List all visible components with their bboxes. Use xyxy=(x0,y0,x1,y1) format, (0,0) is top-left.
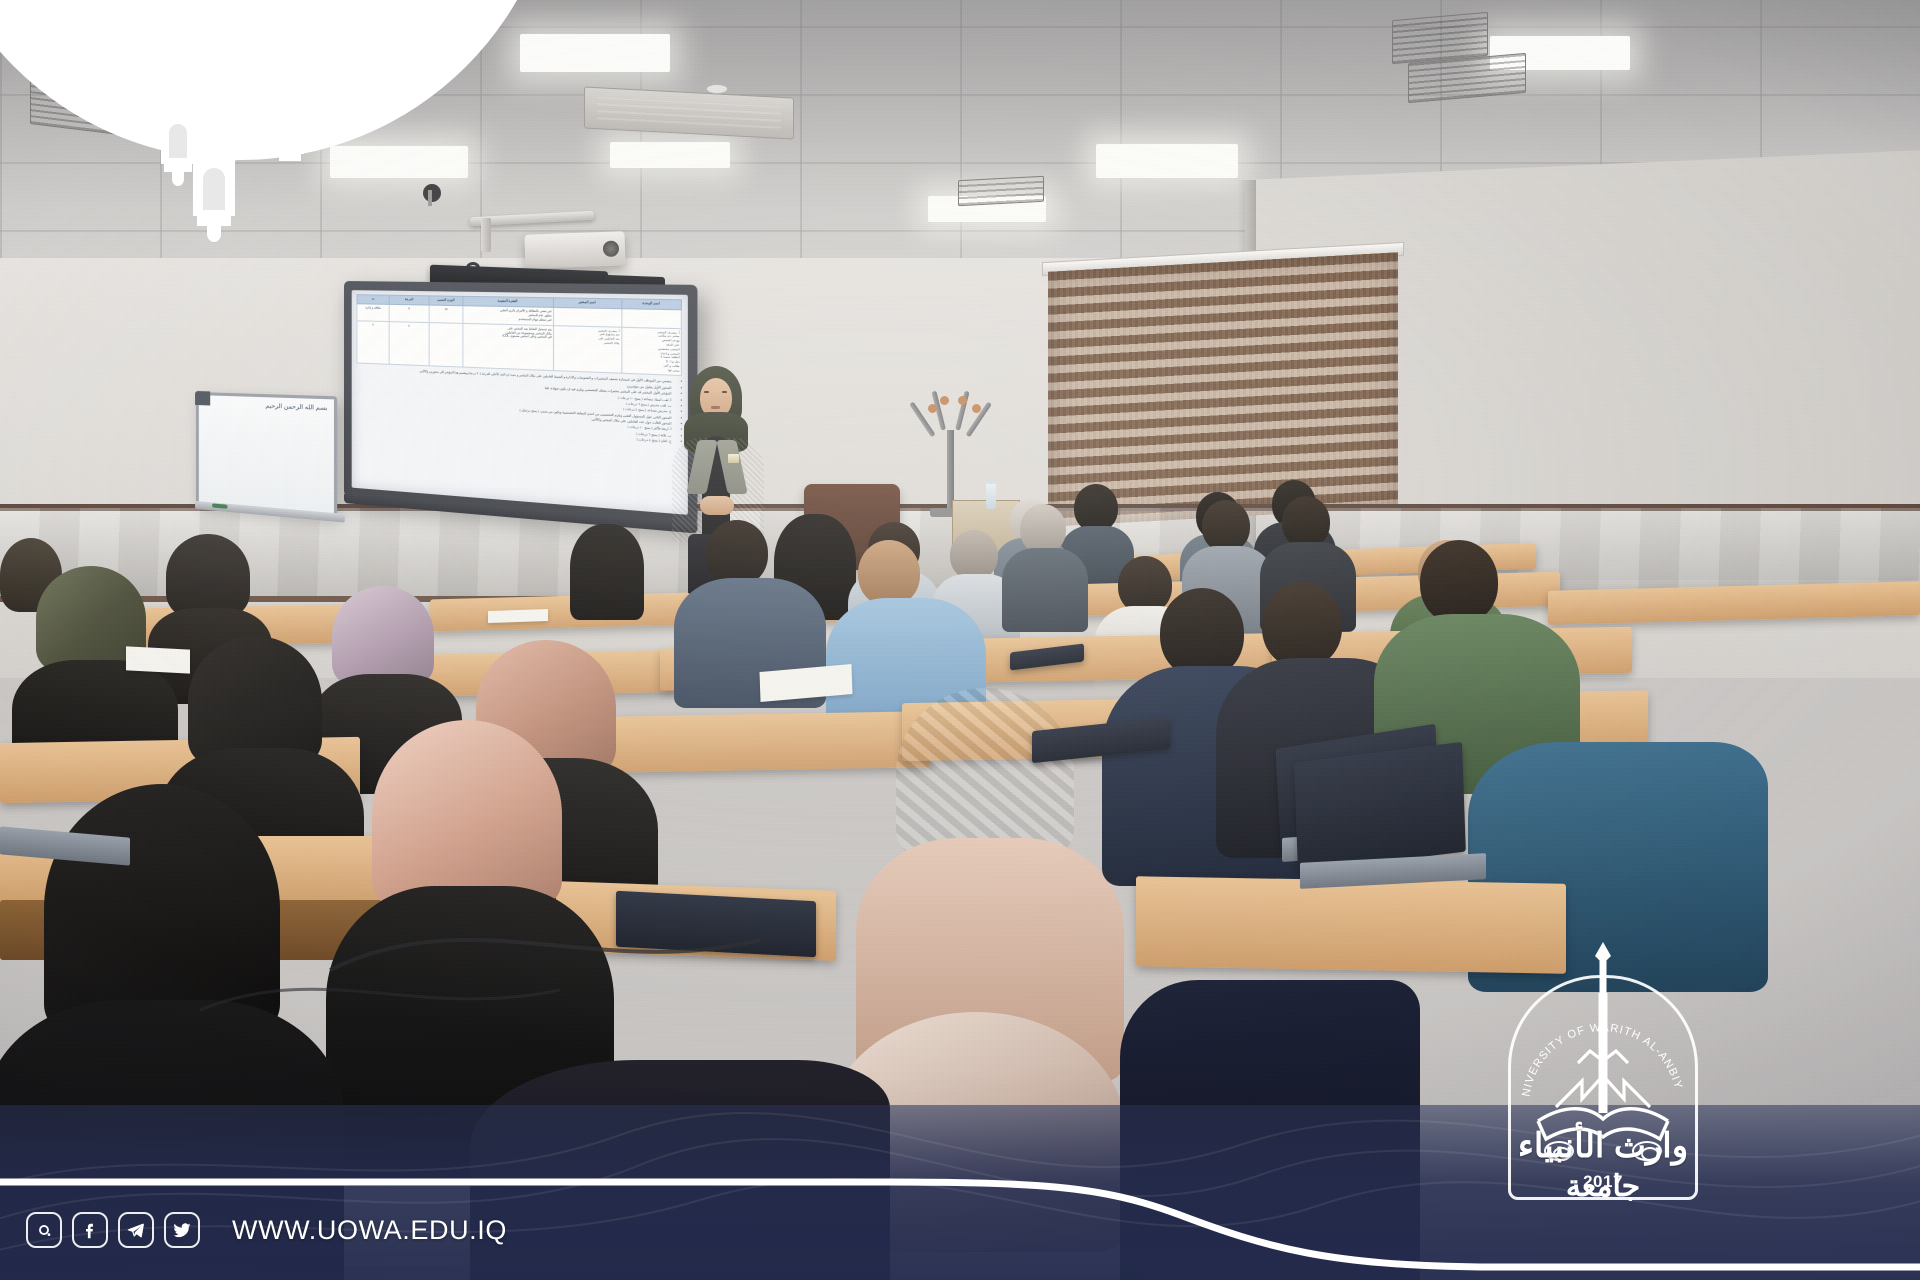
logo-year: 2017 xyxy=(1583,1172,1623,1192)
attendee-hijab xyxy=(896,688,1074,860)
logo-flourish xyxy=(1556,1051,1650,1107)
desk xyxy=(430,593,690,632)
lantern-window xyxy=(169,124,187,158)
attendee-head xyxy=(706,520,768,586)
twitter-icon xyxy=(171,1219,193,1241)
attendee-head xyxy=(1020,504,1066,554)
smart-board[interactable]: اسم الوحدة اسم المختبر الفقرة المقيمة ال… xyxy=(344,281,697,526)
lantern-bead xyxy=(288,84,293,89)
whiteboard-corner-bracket xyxy=(195,391,210,406)
logo-arc-label: UNIVERSITY OF WARITH AL-ANBIYAA xyxy=(1508,975,1684,1097)
coat-hook xyxy=(972,404,981,413)
handout-paper xyxy=(488,609,548,623)
slide-table: اسم الوحدة اسم المختبر الفقرة المقيمة ال… xyxy=(356,294,681,376)
desk xyxy=(600,711,930,773)
university-logo: UNIVERSITY OF WARITH AL-ANBIYAA وارث الأ… xyxy=(1508,975,1698,1200)
ceiling-light xyxy=(520,34,670,72)
instagram-icon xyxy=(33,1219,55,1241)
coat-hook xyxy=(940,396,949,405)
lantern-foot xyxy=(172,172,184,186)
ceiling-vent xyxy=(1392,12,1488,64)
lantern-cord xyxy=(177,36,179,100)
attendee-head xyxy=(950,530,998,580)
desk xyxy=(1136,876,1566,974)
attendee-head xyxy=(1202,500,1250,552)
lantern-cage xyxy=(276,114,304,154)
twitter-link[interactable] xyxy=(164,1212,200,1248)
cell-score: ٤ xyxy=(390,321,429,366)
logo-arabic-top: وارث الأنبياء xyxy=(1508,1126,1698,1166)
projector xyxy=(524,231,625,268)
laptop xyxy=(1294,742,1466,872)
presenter-mouth xyxy=(711,406,720,409)
facebook-icon xyxy=(79,1219,101,1241)
attendee-head xyxy=(1282,496,1330,548)
cell-lab xyxy=(553,307,621,327)
attendee-head xyxy=(1160,588,1244,678)
presenter-eye xyxy=(704,391,709,393)
whiteboard-text: بسم الله الرحمن الرحيم xyxy=(266,402,328,412)
attendee-head xyxy=(1074,484,1118,532)
attendee-hijab xyxy=(332,586,434,686)
ceiling-light xyxy=(1096,144,1238,178)
logo-arc-text: UNIVERSITY OF WARITH AL-ANBIYAA xyxy=(1508,975,1698,1200)
attendee-head xyxy=(1420,540,1498,624)
cell-weight xyxy=(429,322,463,367)
social-links[interactable] xyxy=(26,1212,200,1248)
floor-cables xyxy=(0,780,900,1040)
lantern-base xyxy=(279,152,301,161)
cell-score: ٥ xyxy=(390,304,429,322)
whiteboard: بسم الله الرحمن الرحيم xyxy=(196,392,337,517)
cell-lab: أ. مشرف المختبريتم مسؤول فنيبعد العاملين… xyxy=(553,325,621,373)
lantern-icon xyxy=(270,18,310,188)
presenter-hands xyxy=(700,496,734,515)
telegram-link[interactable] xyxy=(118,1212,154,1248)
lantern-foot xyxy=(207,226,221,242)
coat-hook xyxy=(928,404,937,413)
lantern-dome xyxy=(274,96,306,116)
ceiling-camera xyxy=(423,184,441,202)
attendee-abaya xyxy=(570,524,644,620)
slide-table-row: أ. مشرف المختبرمختبر ذي مكاتببهدف الفحصع… xyxy=(357,320,681,376)
lantern-base xyxy=(197,214,231,226)
handout-paper xyxy=(126,646,190,673)
telegram-icon xyxy=(125,1219,147,1241)
cell-no: نظافة و إدارة xyxy=(357,304,390,322)
lantern-bead xyxy=(176,60,181,65)
smart-board-screen: اسم الوحدة اسم المختبر الفقرة المقيمة ال… xyxy=(352,290,688,515)
website-url[interactable]: WWW.UOWA.EDU.IQ xyxy=(232,1212,507,1248)
projector-mount-drop xyxy=(481,218,491,252)
attendee-hijab xyxy=(188,636,322,766)
attendee-hijab xyxy=(166,534,250,618)
ceiling-light xyxy=(610,142,730,168)
attendee-head xyxy=(858,540,920,606)
lantern-icon xyxy=(186,108,242,268)
coat-hook xyxy=(958,396,967,405)
presentation-slide: اسم الوحدة اسم المختبر الفقرة المقيمة ال… xyxy=(356,294,681,510)
cell-item: يتم تسجيل النقاط بعد المختبر على ملاك ال… xyxy=(463,323,553,371)
lantern-bead xyxy=(288,40,293,45)
instagram-link[interactable] xyxy=(26,1212,62,1248)
attendee-head xyxy=(1262,582,1342,668)
slide-notes: يتضمن من الموظف الأول في استمارة تصنيف ا… xyxy=(356,367,681,445)
cell-item: غير معنى بالنظافة و الالتزام بالزي الطبي… xyxy=(463,306,553,326)
smoke-detector xyxy=(706,84,728,94)
presenter-name-badge xyxy=(728,454,739,463)
facebook-link[interactable] xyxy=(72,1212,108,1248)
ceiling-vent xyxy=(958,176,1044,207)
cell-weight: ١٥ xyxy=(429,305,463,323)
cell-no: ٢ xyxy=(357,320,390,364)
lantern-window xyxy=(203,168,225,210)
screenshot-root: اسم الوحدة اسم المختبر الفقرة المقيمة ال… xyxy=(0,0,1920,1280)
cell-unit xyxy=(621,309,681,329)
lantern-bead xyxy=(176,80,181,85)
decor-lanterns xyxy=(0,0,420,300)
presenter-eye xyxy=(722,391,727,393)
water-bottle xyxy=(986,483,996,509)
lantern-bead xyxy=(288,62,293,67)
camera-stem xyxy=(428,190,432,206)
attendee-body xyxy=(1002,548,1088,632)
lantern-dome xyxy=(191,132,237,162)
